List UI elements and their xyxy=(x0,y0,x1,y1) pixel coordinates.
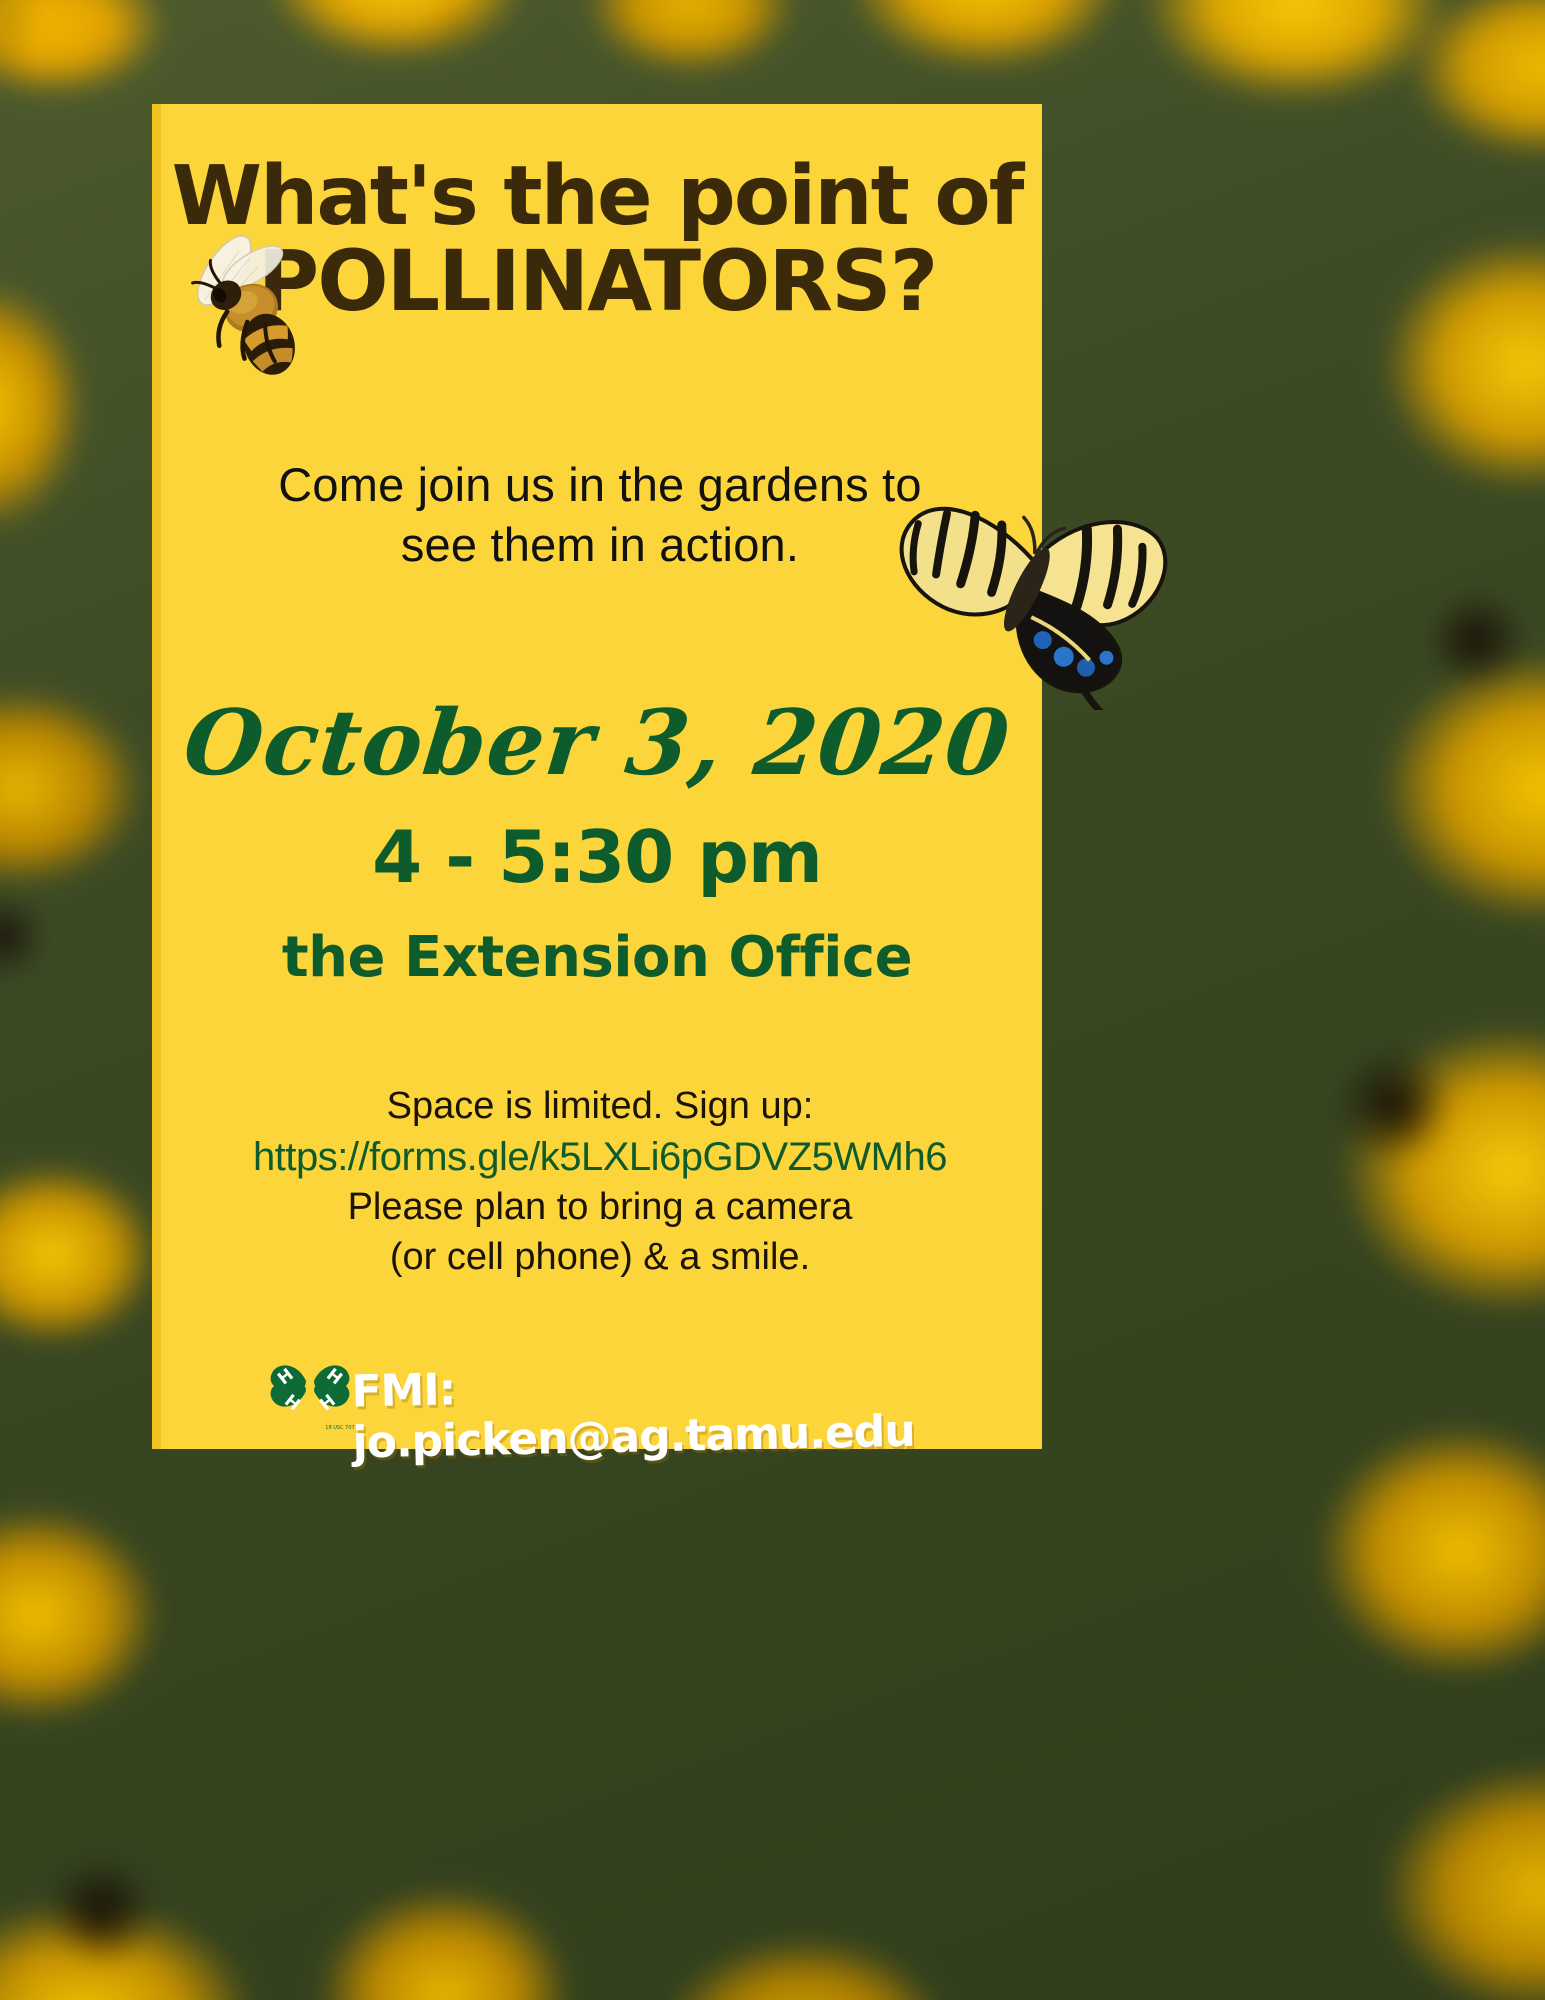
event-date: October 3, 2020 xyxy=(146,690,1047,796)
contact-fmi[interactable]: FMI: jo.picken@ag.tamu.edu xyxy=(351,1354,973,1469)
event-location: the Extension Office xyxy=(152,925,1042,990)
signup-url[interactable]: https://forms.gle/k5LXLi6pGDVZ5WMh6 xyxy=(170,1131,1030,1183)
honey-bee-icon xyxy=(180,215,330,390)
signup-line-3: Please plan to bring a camera xyxy=(170,1183,1030,1232)
subtitle-line-2: see them in action. xyxy=(401,518,799,571)
clover-usc-footer: 18 USC 707 xyxy=(325,1425,354,1431)
event-time: 4 - 5:30 pm xyxy=(152,815,1042,899)
signup-line-4: (or cell phone) & a smile. xyxy=(170,1233,1030,1282)
poster-canvas: What's the point of POLLINATORS? xyxy=(0,0,1545,2000)
4-h-clover-logo-icon: H H H H 18 USC 707 xyxy=(258,1333,362,1437)
subtitle-line-1: Come join us in the gardens to xyxy=(278,458,921,511)
signup-line-1: Space is limited. Sign up: xyxy=(170,1082,1030,1131)
butterfly-icon xyxy=(880,440,1180,710)
signup-block: Space is limited. Sign up: https://forms… xyxy=(170,1082,1030,1282)
